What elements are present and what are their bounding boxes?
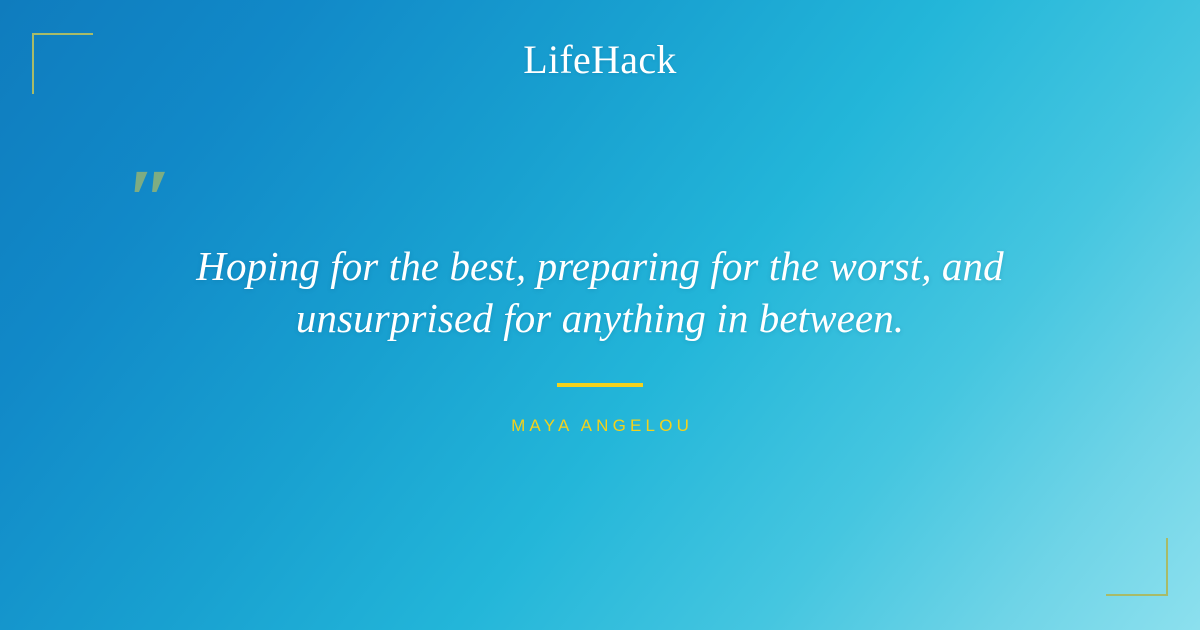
corner-bracket-bottom-right-horizontal [1106, 594, 1168, 596]
corner-bracket-bottom-right-vertical [1166, 538, 1168, 596]
brand-logo: LifeHack [0, 36, 1200, 84]
quote-card: LifeHack ″ Hoping for the best, preparin… [0, 0, 1200, 630]
corner-bracket-bottom-right-icon [1106, 538, 1168, 596]
author-divider [557, 383, 643, 387]
corner-bracket-top-left-horizontal [32, 33, 93, 35]
quotation-mark-icon: ″ [126, 156, 174, 242]
quote-text: Hoping for the best, preparing for the w… [0, 240, 1200, 344]
author-name: MAYA ANGELOU [0, 414, 1200, 438]
